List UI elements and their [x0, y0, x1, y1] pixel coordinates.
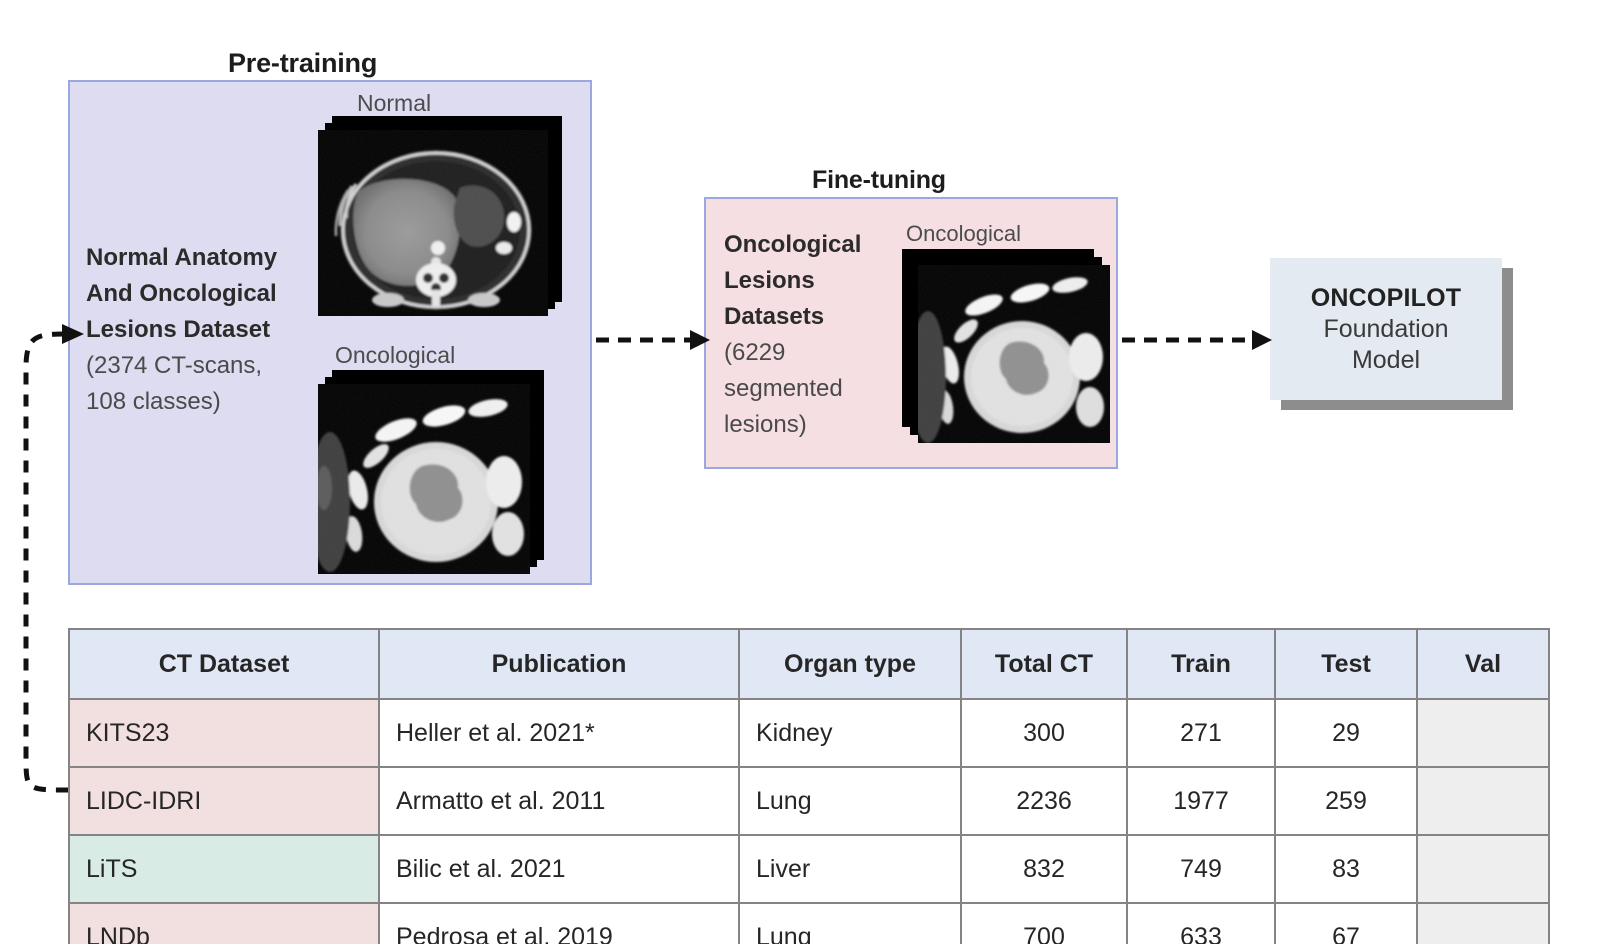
cell-test: 83: [1275, 835, 1417, 903]
column-header-ct-dataset: CT Dataset: [69, 629, 379, 699]
pretraining-panel: Normal Anatomy And Oncological Lesions D…: [68, 80, 592, 585]
pretraining-detail-line-1: (2374 CT-scans,: [86, 348, 326, 384]
cell-organ: Lung: [739, 903, 961, 944]
cell-publication: Heller et al. 2021*: [379, 699, 739, 767]
cell-dataset: LIDC-IDRI: [69, 767, 379, 835]
normal-ct-slice: [318, 130, 548, 316]
oncopilot-subtitle-line-2: Model: [1352, 346, 1420, 375]
cell-train: 749: [1127, 835, 1275, 903]
cell-train: 633: [1127, 903, 1275, 944]
cell-test: 29: [1275, 699, 1417, 767]
cell-organ: Lung: [739, 767, 961, 835]
cell-organ: Kidney: [739, 699, 961, 767]
cell-total-ct: 300: [961, 699, 1127, 767]
table-row[interactable]: LNDb Pedrosa et al. 2019 Lung 700 633 67: [69, 903, 1549, 944]
table-header-row: CT Dataset Publication Organ type Total …: [69, 629, 1549, 699]
normal-ct-caption: Normal: [357, 90, 431, 117]
oncopilot-model-card: ONCOPILOT Foundation Model: [1270, 258, 1502, 400]
column-header-total-ct: Total CT: [961, 629, 1127, 699]
cell-val: [1417, 699, 1549, 767]
finetuning-name-line-3: Datasets: [724, 299, 894, 335]
oncological-ct-image-stack-pretraining: [318, 370, 548, 575]
table-row[interactable]: KITS23 Heller et al. 2021* Kidney 300 27…: [69, 699, 1549, 767]
cell-total-ct: 2236: [961, 767, 1127, 835]
cell-train: 1977: [1127, 767, 1275, 835]
oncological-ct-slice-finetuning: [918, 265, 1110, 443]
cell-train: 271: [1127, 699, 1275, 767]
cell-publication: Pedrosa et al. 2019: [379, 903, 739, 944]
oncological-ct-caption-pretraining: Oncological: [335, 342, 455, 369]
finetuning-name-line-2: Lesions: [724, 263, 894, 299]
normal-ct-image-stack: [318, 116, 564, 316]
oncopilot-subtitle-line-1: Foundation: [1323, 315, 1448, 344]
table-row[interactable]: LIDC-IDRI Armatto et al. 2011 Lung 2236 …: [69, 767, 1549, 835]
column-header-organ-type: Organ type: [739, 629, 961, 699]
finetuning-name-line-1: Oncological: [724, 227, 894, 263]
arrow-finetuning-to-oncopilot: [1122, 326, 1274, 354]
finetuning-panel: Oncological Lesions Datasets (6229 segme…: [704, 197, 1118, 469]
oncological-ct-slice-pretraining: [318, 384, 530, 574]
cell-dataset: LiTS: [69, 835, 379, 903]
finetuning-title: Fine-tuning: [812, 166, 946, 195]
cell-val: [1417, 767, 1549, 835]
pretraining-detail-line-2: 108 classes): [86, 384, 326, 420]
oncological-ct-image-stack-finetuning: [902, 249, 1112, 445]
cell-organ: Liver: [739, 835, 961, 903]
cell-dataset: LNDb: [69, 903, 379, 944]
cell-dataset: KITS23: [69, 699, 379, 767]
pretraining-name-line-2: And Oncological: [86, 276, 326, 312]
ct-dataset-table: CT Dataset Publication Organ type Total …: [68, 628, 1550, 944]
column-header-train: Train: [1127, 629, 1275, 699]
oncological-ct-caption-finetuning: Oncological: [906, 221, 1021, 247]
pretraining-name-line-1: Normal Anatomy: [86, 240, 326, 276]
finetuning-detail-line-1: (6229: [724, 335, 894, 371]
column-header-val: Val: [1417, 629, 1549, 699]
oncopilot-name: ONCOPILOT: [1311, 284, 1461, 313]
cell-test: 259: [1275, 767, 1417, 835]
cell-total-ct: 832: [961, 835, 1127, 903]
pretraining-name-line-3: Lesions Dataset: [86, 312, 326, 348]
column-header-publication: Publication: [379, 629, 739, 699]
finetuning-dataset-text: Oncological Lesions Datasets (6229 segme…: [724, 227, 894, 443]
cell-total-ct: 700: [961, 903, 1127, 944]
cell-publication: Bilic et al. 2021: [379, 835, 739, 903]
pretraining-dataset-text: Normal Anatomy And Oncological Lesions D…: [86, 240, 326, 420]
arrow-pretraining-to-finetuning: [596, 326, 712, 354]
cell-val: [1417, 835, 1549, 903]
cell-val: [1417, 903, 1549, 944]
pretraining-title: Pre-training: [228, 48, 377, 79]
table-row[interactable]: LiTS Bilic et al. 2021 Liver 832 749 83: [69, 835, 1549, 903]
column-header-test: Test: [1275, 629, 1417, 699]
finetuning-detail-line-2: segmented: [724, 371, 894, 407]
finetuning-detail-line-3: lesions): [724, 407, 894, 443]
diagram-canvas: Pre-training Normal Anatomy And Oncologi…: [0, 0, 1600, 944]
cell-publication: Armatto et al. 2011: [379, 767, 739, 835]
cell-test: 67: [1275, 903, 1417, 944]
